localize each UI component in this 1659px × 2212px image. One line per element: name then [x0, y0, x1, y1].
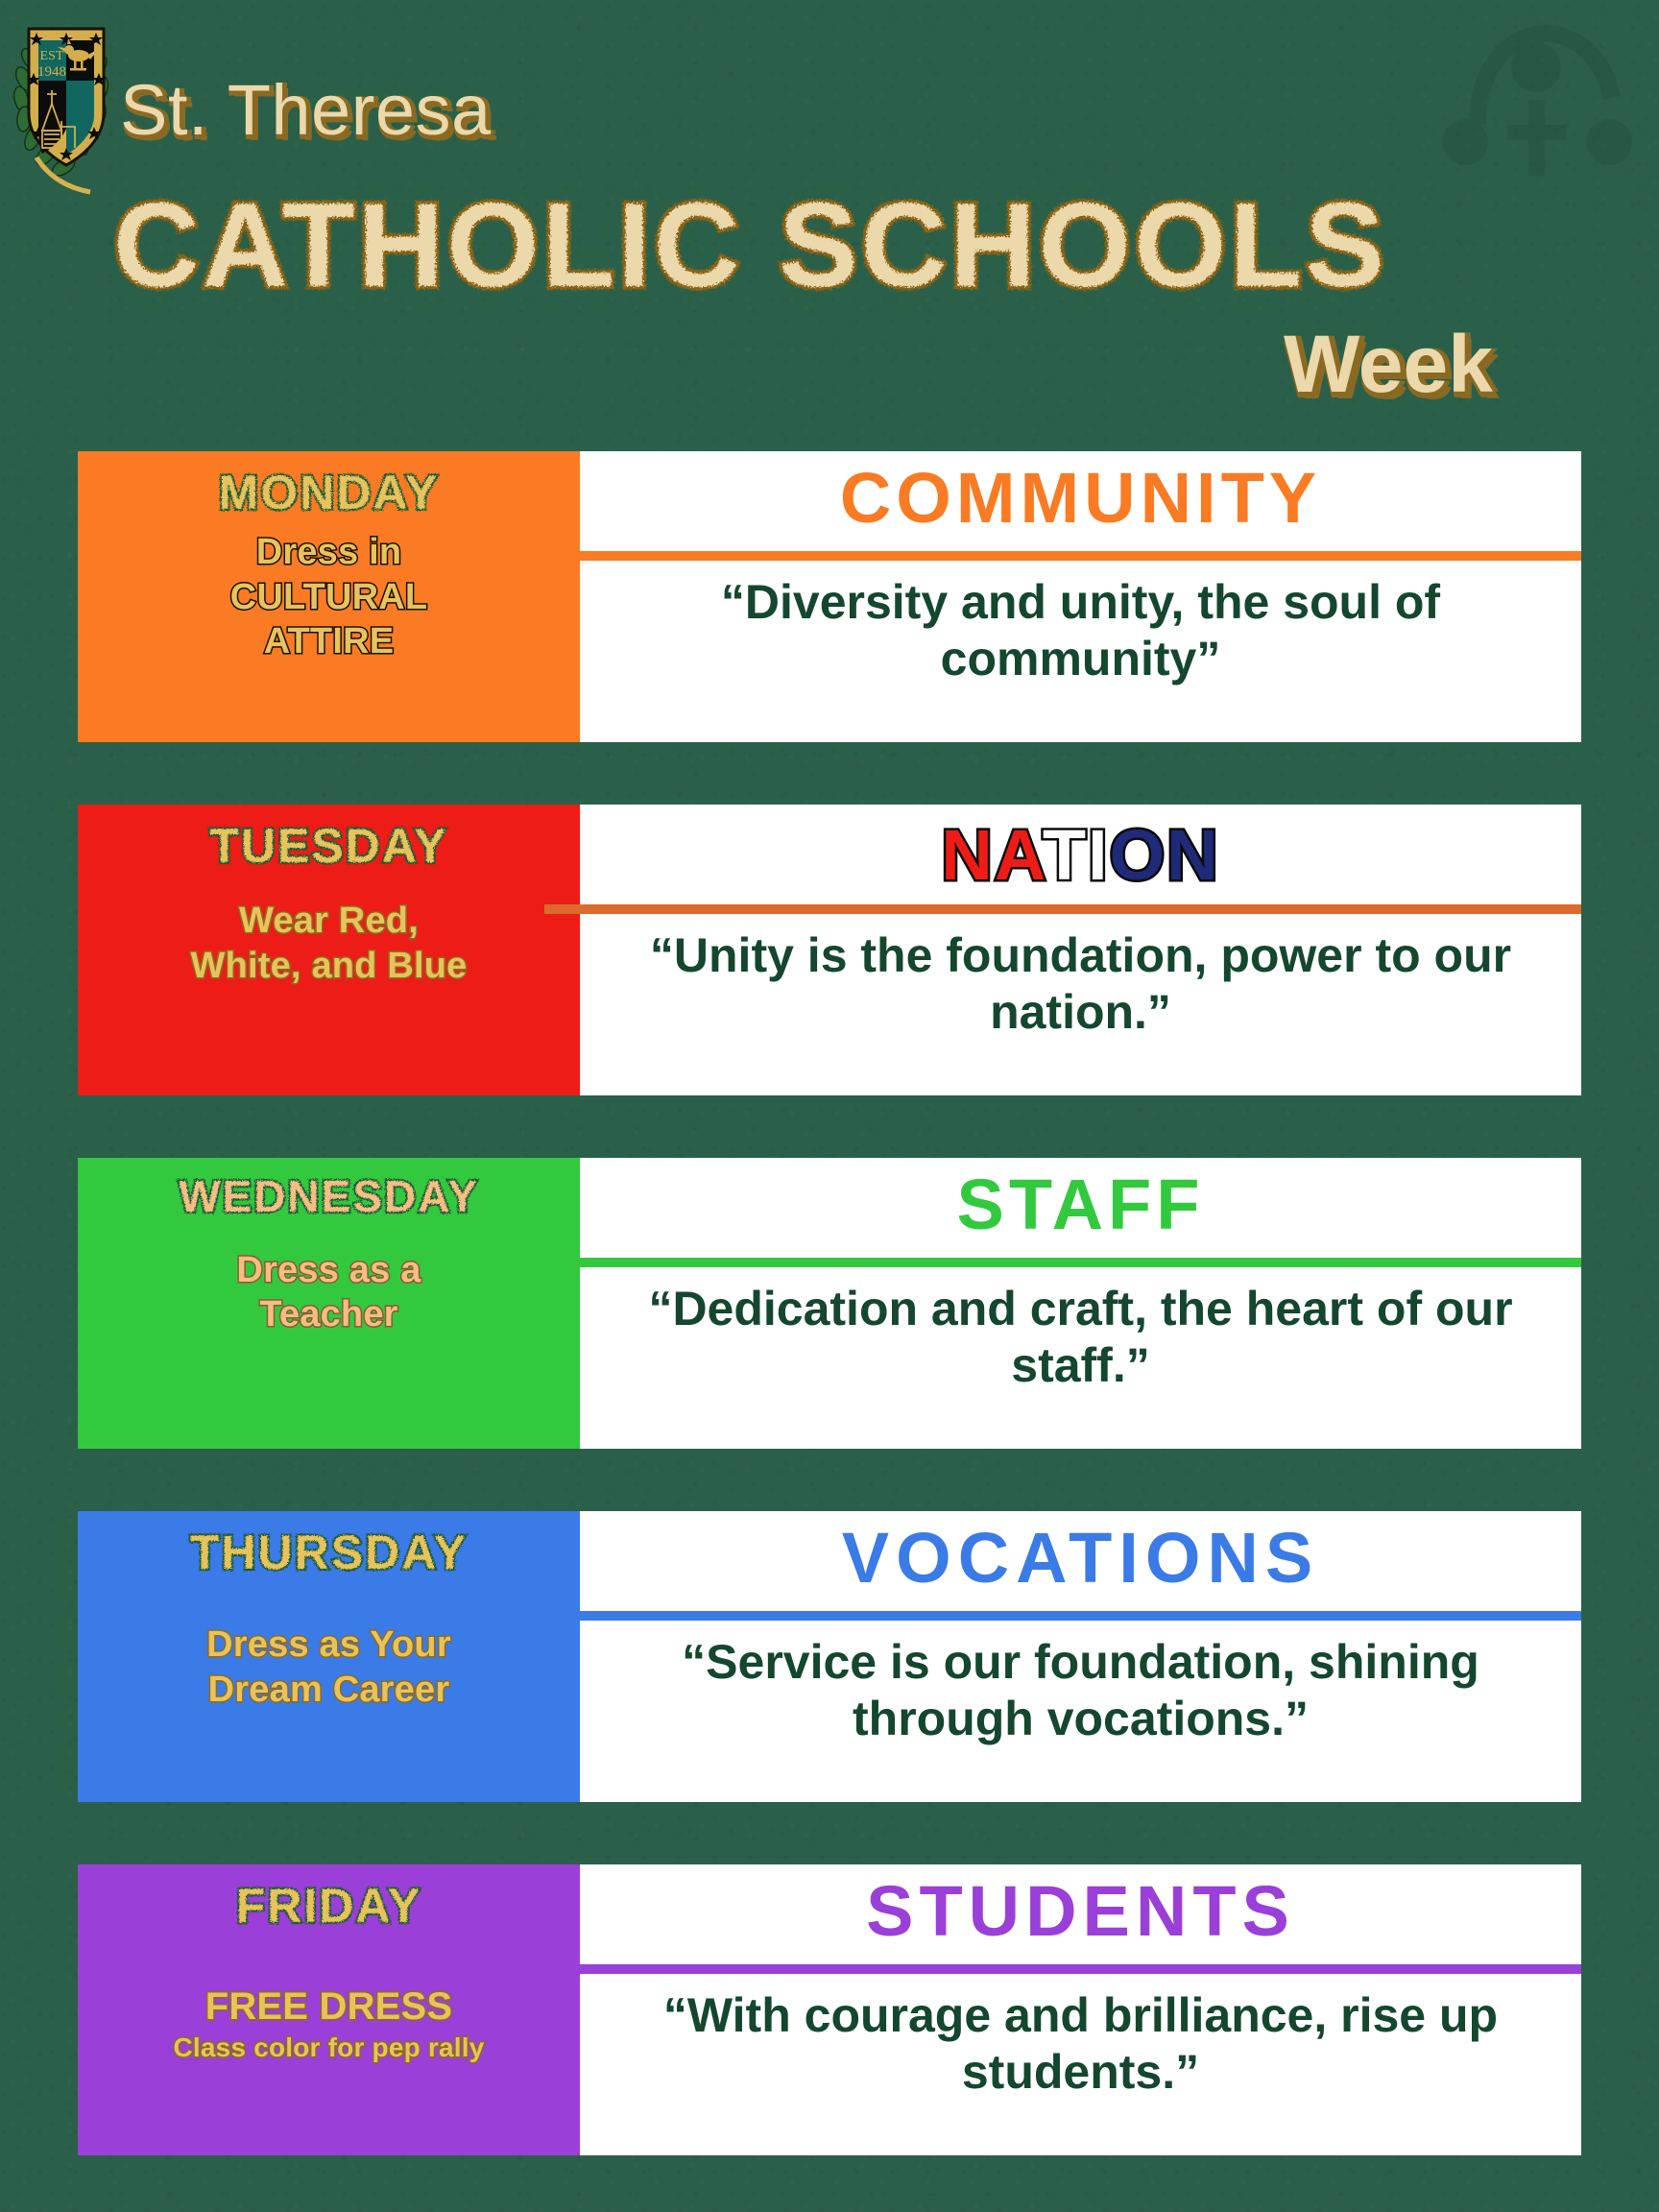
- theme-quote-staff: “Dedication and craft, the heart of our …: [605, 1281, 1556, 1394]
- theme-divider: [544, 1964, 1581, 1974]
- dress-code-line1: Dress as a: [236, 1250, 421, 1290]
- dress-code-friday: FREE DRESS Class color for pep rally: [174, 1985, 485, 2062]
- day-label-thursday: THURSDAY: [190, 1527, 468, 1578]
- theme-divider: [544, 551, 1581, 561]
- dress-code-line1: FREE DRESS: [205, 1985, 453, 2028]
- dress-code-line2: Class color for pep rally: [174, 2032, 485, 2062]
- theme-quote-nation: “Unity is the foundation, power to our n…: [605, 927, 1556, 1041]
- dress-code-wednesday: Dress as a Teacher: [236, 1250, 421, 1335]
- title-line-week: Week: [1284, 318, 1493, 411]
- day-panel-wednesday: WEDNESDAY Dress as a Teacher: [78, 1158, 580, 1449]
- day-row-friday: FRIDAY FREE DRESS Class color for pep ra…: [78, 1864, 1581, 2155]
- day-panel-thursday: THURSDAY Dress as Your Dream Career: [78, 1511, 580, 1802]
- day-row-tuesday: TUESDAY Wear Red, White, and Blue NATION…: [78, 805, 1581, 1095]
- title-line-catholic-schools: CATHOLIC SCHOOLS: [113, 178, 1387, 314]
- day-panel-friday: FRIDAY FREE DRESS Class color for pep ra…: [78, 1864, 580, 2155]
- theme-divider: [544, 1611, 1581, 1621]
- st-theresa-crest-icon: EST 1948: [8, 13, 219, 205]
- theme-quote-community: “Diversity and unity, the soul of commun…: [605, 574, 1556, 687]
- theme-divider: [544, 904, 1581, 914]
- theme-word-students: STUDENTS: [866, 1876, 1295, 1947]
- dress-code-line1: Dress in: [256, 532, 402, 572]
- theme-panel-thursday: VOCATIONS “Service is our foundation, sh…: [580, 1511, 1581, 1802]
- catholic-schools-week-watermark-icon: [1440, 8, 1632, 176]
- day-label-friday: FRIDAY: [236, 1880, 422, 1932]
- day-label-wednesday: WEDNESDAY: [179, 1173, 479, 1221]
- poster-stage: EST 1948: [0, 0, 1659, 2212]
- day-label-tuesday: TUESDAY: [209, 820, 447, 872]
- nation-part-ti: TI: [1043, 815, 1110, 895]
- dress-code-line1: Dress as Your: [206, 1624, 451, 1665]
- dress-code-line2: Teacher: [236, 1294, 421, 1335]
- day-panel-tuesday: TUESDAY Wear Red, White, and Blue: [78, 805, 580, 1095]
- theme-quote-vocations: “Service is our foundation, shining thro…: [605, 1634, 1556, 1747]
- dress-code-line3: ATTIRE: [230, 621, 428, 662]
- theme-panel-wednesday: STAFF “Dedication and craft, the heart o…: [580, 1158, 1581, 1449]
- dress-code-line1: Wear Red,: [239, 901, 419, 941]
- nation-part-on: ON: [1110, 815, 1220, 895]
- crest-est-year: 1948: [37, 64, 66, 80]
- dress-code-monday: Dress in CULTURAL ATTIRE: [230, 532, 428, 662]
- dress-code-thursday: Dress as Your Dream Career: [206, 1624, 451, 1710]
- theme-word-vocations: VOCATIONS: [842, 1523, 1319, 1594]
- theme-panel-monday: COMMUNITY “Diversity and unity, the soul…: [580, 451, 1581, 742]
- dress-code-line2: CULTURAL: [230, 577, 428, 618]
- nation-part-na: NA: [941, 815, 1042, 895]
- day-row-thursday: THURSDAY Dress as Your Dream Career VOCA…: [78, 1511, 1581, 1802]
- dress-code-line2: White, and Blue: [191, 946, 468, 987]
- day-panel-monday: MONDAY Dress in CULTURAL ATTIRE: [78, 451, 580, 742]
- theme-word-community: COMMUNITY: [840, 463, 1321, 534]
- theme-panel-tuesday: NATION “Unity is the foundation, power t…: [580, 805, 1581, 1095]
- theme-divider: [544, 1258, 1581, 1267]
- dress-code-tuesday: Wear Red, White, and Blue: [191, 901, 468, 986]
- day-row-monday: MONDAY Dress in CULTURAL ATTIRE COMMUNIT…: [78, 451, 1581, 742]
- theme-word-staff: STAFF: [957, 1169, 1205, 1240]
- dress-code-line2: Dream Career: [206, 1670, 451, 1711]
- theme-word-nation: NATION: [941, 820, 1219, 891]
- crest-est-label: EST: [40, 49, 64, 63]
- theme-quote-students: “With courage and brilliance, rise up st…: [605, 1987, 1556, 2101]
- day-label-monday: MONDAY: [219, 467, 440, 518]
- theme-panel-friday: STUDENTS “With courage and brilliance, r…: [580, 1864, 1581, 2155]
- day-row-wednesday: WEDNESDAY Dress as a Teacher STAFF “Dedi…: [78, 1158, 1581, 1449]
